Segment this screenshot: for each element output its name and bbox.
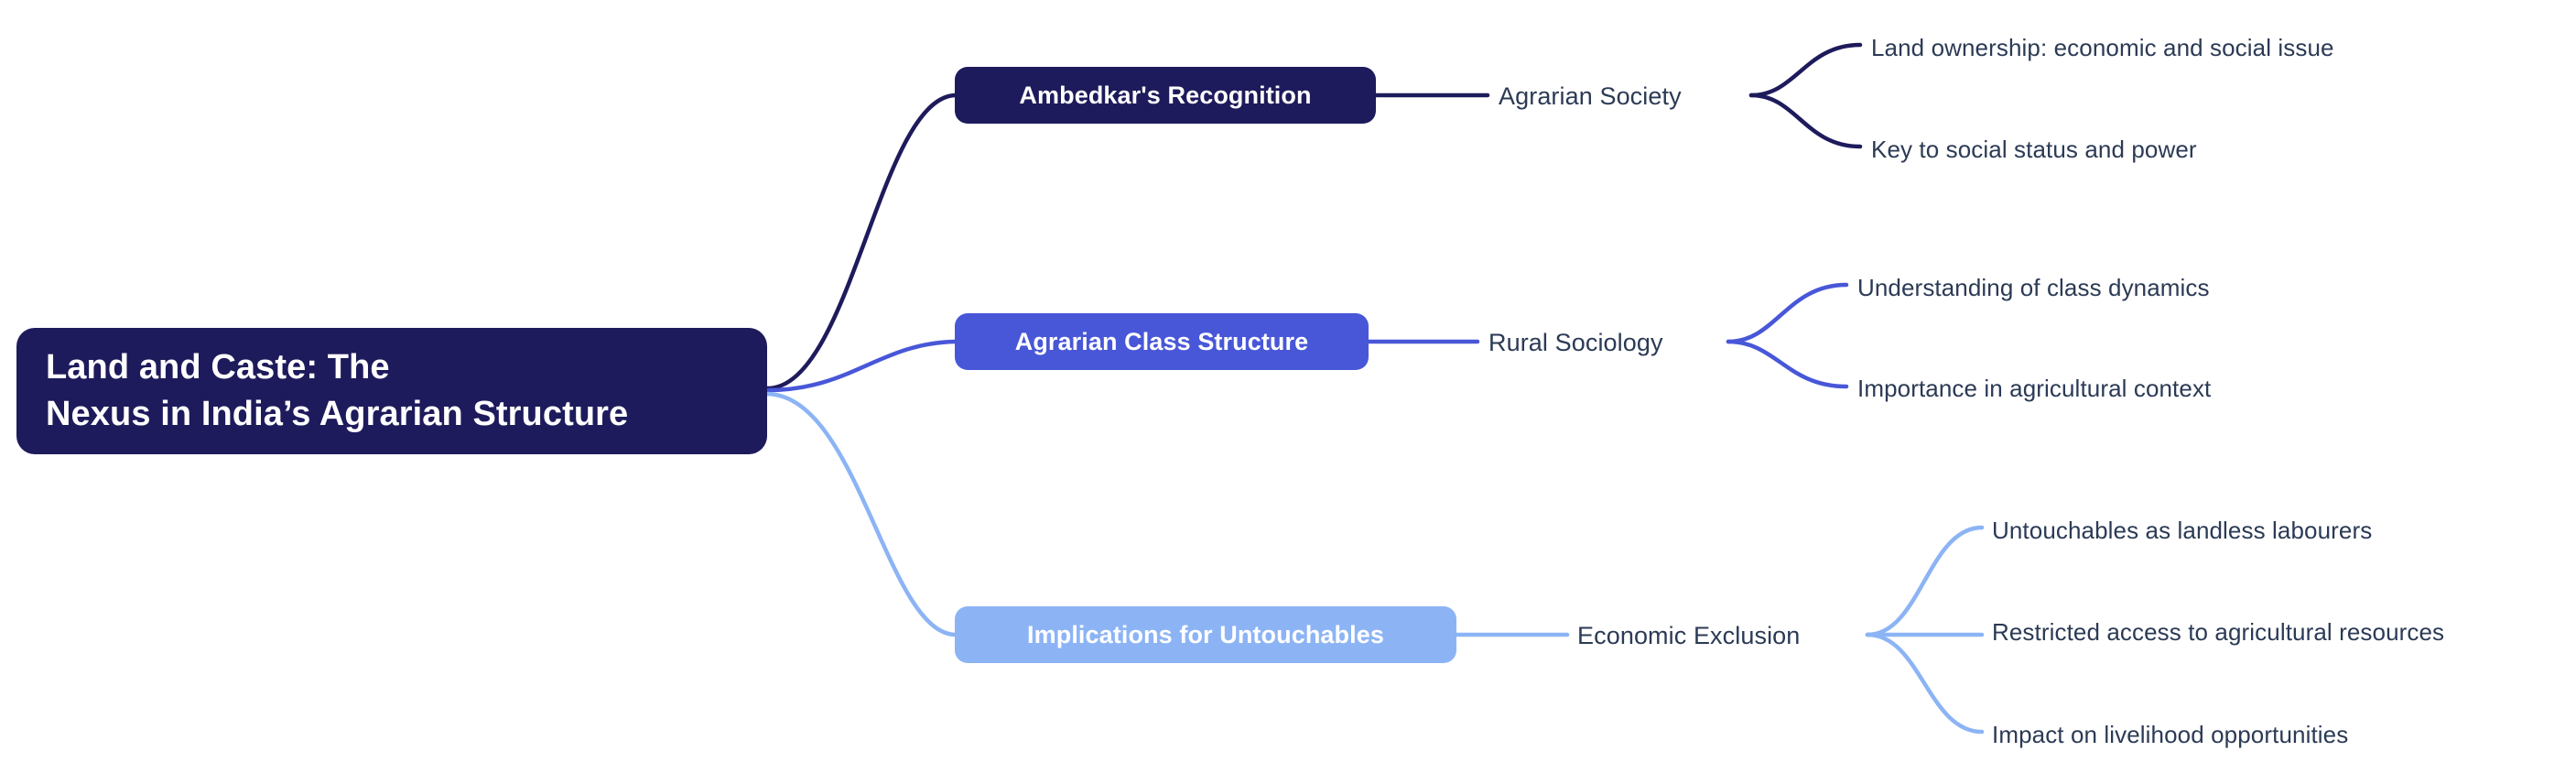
connector-root-to-branch-0: [767, 95, 955, 388]
leaf-label[interactable]: Understanding of class dynamics: [1857, 276, 2210, 299]
branch-node-ambedkars-recognition[interactable]: Ambedkar's Recognition: [955, 67, 1376, 124]
root-title-line-2: Nexus in India’s Agrarian Structure: [46, 391, 628, 438]
mindmap-canvas: Land and Caste: The Nexus in India’s Agr…: [0, 0, 2576, 773]
leaf-label[interactable]: Restricted access to agricultural resour…: [1992, 620, 2444, 644]
mid-label-rural-sociology[interactable]: Rural Sociology: [1488, 331, 1663, 355]
connector-mid-2-to-leaf-2-2: [1867, 635, 1982, 732]
mid-label-economic-exclusion[interactable]: Economic Exclusion: [1577, 624, 1800, 648]
leaf-label[interactable]: Impact on livelihood opportunities: [1992, 723, 2348, 746]
root-node[interactable]: Land and Caste: The Nexus in India’s Agr…: [16, 328, 767, 454]
connector-mid-0-to-leaf-0-1: [1751, 95, 1860, 147]
branch-node-agrarian-class-structure[interactable]: Agrarian Class Structure: [955, 313, 1369, 370]
leaf-label[interactable]: Key to social status and power: [1871, 137, 2197, 161]
branch-label: Agrarian Class Structure: [1015, 328, 1309, 356]
leaf-label[interactable]: Importance in agricultural context: [1857, 376, 2211, 400]
leaf-label[interactable]: Land ownership: economic and social issu…: [1871, 36, 2334, 60]
branch-label: Ambedkar's Recognition: [1019, 82, 1311, 110]
root-title-line-1: Land and Caste: The: [46, 344, 390, 391]
connector-mid-2-to-leaf-2-0: [1867, 528, 1982, 635]
connector-root-to-branch-1: [767, 342, 955, 390]
mid-label-agrarian-society[interactable]: Agrarian Society: [1499, 84, 1682, 109]
connector-mid-1-to-leaf-1-0: [1728, 285, 1846, 342]
branch-label: Implications for Untouchables: [1027, 621, 1384, 649]
connector-mid-1-to-leaf-1-1: [1728, 342, 1846, 386]
branch-node-implications-for-untouchables[interactable]: Implications for Untouchables: [955, 606, 1456, 663]
leaf-label[interactable]: Untouchables as landless labourers: [1992, 518, 2372, 542]
connector-root-to-branch-2: [767, 394, 955, 635]
connector-mid-0-to-leaf-0-0: [1751, 45, 1860, 95]
